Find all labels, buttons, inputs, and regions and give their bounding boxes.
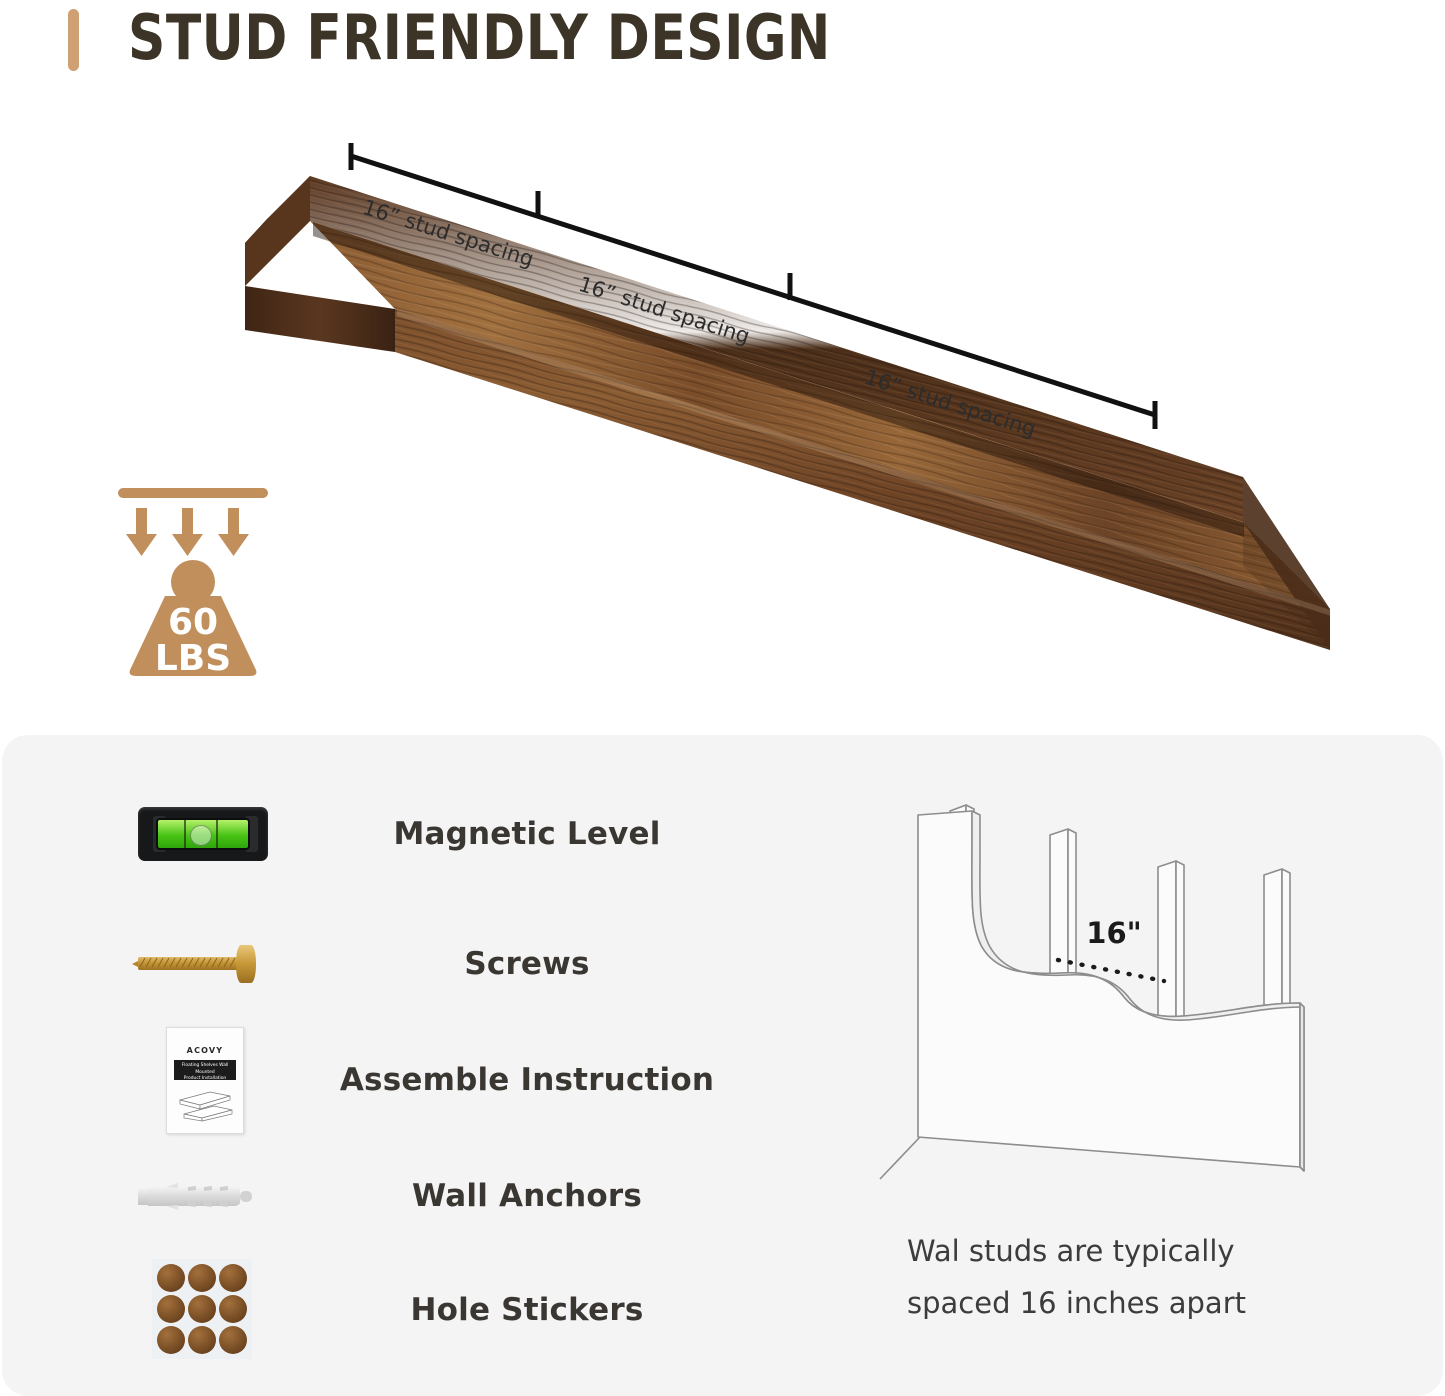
wall-stud-diagram: 16" [862, 775, 1332, 1195]
weight-badge-svg: 60 LBS [110, 478, 290, 683]
sticker-sheet [152, 1259, 252, 1359]
sticker-dot [157, 1295, 185, 1323]
down-arrow-icon-1 [126, 508, 157, 556]
caption-line-1: Wal studs are typically [907, 1225, 1347, 1277]
manual-subtitle-bar: Floating Shelves Wall Mounted Product In… [174, 1060, 236, 1080]
infographic-page: STUD FRIENDLY DESIGN [0, 0, 1445, 1396]
title-row: STUD FRIENDLY DESIGN [0, 0, 1445, 90]
sticker-dot [188, 1295, 216, 1323]
magnetic-level-icon [130, 777, 278, 890]
sticker-dot [188, 1264, 216, 1292]
wall-diagram-caption: Wal studs are typically spaced 16 inches… [907, 1225, 1347, 1329]
sticker-dot [188, 1326, 216, 1354]
sticker-dot [219, 1264, 247, 1292]
accessory-label: Wall Anchors [332, 1139, 722, 1252]
accessory-label: Screws [332, 907, 722, 1020]
wall-anchor-shape-icon [136, 1183, 254, 1210]
screw-threads-icon [138, 953, 242, 974]
sticker-dot [157, 1326, 185, 1354]
sticker-dot [219, 1326, 247, 1354]
weight-capacity-badge: 60 LBS [110, 478, 290, 683]
stud [1158, 861, 1184, 1021]
top-section: STUD FRIENDLY DESIGN [0, 0, 1445, 735]
sticker-dot [157, 1264, 185, 1292]
accessory-label: Magnetic Level [332, 777, 722, 890]
manual-brand: ACOVY [167, 1046, 243, 1055]
manual-line1: Floating Shelves Wall Mounted [177, 1063, 233, 1076]
down-arrow-icon-2 [172, 508, 203, 556]
caption-line-2: spaced 16 inches apart [907, 1277, 1347, 1329]
sticker-dot [219, 1295, 247, 1323]
down-arrow-icon-3 [218, 508, 249, 556]
list-item: Magnetic Level [2, 777, 722, 890]
title-accent-bar [68, 9, 79, 71]
ceiling-bar-icon [118, 488, 268, 498]
stud-spacing-label: 16" [1086, 916, 1141, 950]
list-item: Wall Anchors [2, 1139, 722, 1252]
accessory-label: Hole Stickers [332, 1253, 722, 1366]
stud [1264, 869, 1290, 1011]
manual-shelf-drawing-icon [176, 1088, 234, 1122]
page-title: STUD FRIENDLY DESIGN [128, 2, 831, 74]
accessory-label: Assemble Instruction [332, 1023, 722, 1136]
list-item: ACOVY Floating Shelves Wall Mounted Prod… [2, 1023, 722, 1136]
wall-stud-svg: 16" [862, 775, 1332, 1195]
weight-value: 60 [168, 602, 218, 643]
wall-anchor-icon [130, 1139, 278, 1252]
accessories-list: Magnetic Level Screws [2, 735, 722, 1396]
screw-icon [130, 907, 278, 1020]
weight-unit: LBS [155, 638, 231, 679]
hole-stickers-icon [130, 1253, 278, 1366]
list-item: Hole Stickers [2, 1253, 722, 1366]
instruction-manual-icon: ACOVY Floating Shelves Wall Mounted Prod… [130, 1023, 278, 1136]
accessories-panel: Magnetic Level Screws [2, 735, 1443, 1396]
list-item: Screws [2, 907, 722, 1020]
